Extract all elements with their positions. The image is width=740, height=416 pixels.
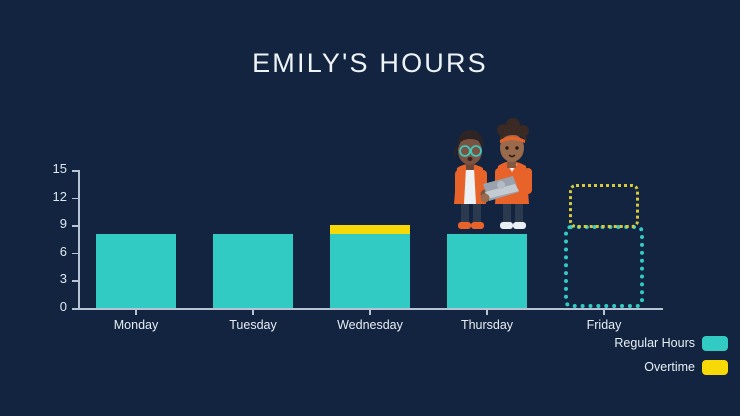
x-label-tuesday: Tuesday xyxy=(229,318,276,332)
y-tick-label-3: 3 xyxy=(60,271,67,286)
y-axis-line xyxy=(78,170,80,309)
x-label-wednesday: Wednesday xyxy=(337,318,403,332)
chart-legend: Regular Hours Overtime xyxy=(588,333,728,381)
y-tick-label-6: 6 xyxy=(60,244,67,259)
legend-label-regular-hours: Regular Hours xyxy=(614,336,695,350)
two-people-with-laptop-illustration xyxy=(443,118,547,234)
y-tick-9: 9 xyxy=(72,225,78,227)
x-tick-tuesday xyxy=(252,309,254,315)
bar-wednesday-overtime[interactable] xyxy=(330,225,410,234)
y-tick-3: 3 xyxy=(72,280,78,282)
legend-label-overtime: Overtime xyxy=(644,360,695,374)
y-tick-label-15: 15 xyxy=(53,161,67,176)
bar-thursday-regular[interactable] xyxy=(447,234,527,308)
x-label-friday: Friday xyxy=(587,318,622,332)
y-tick-15: 15 xyxy=(72,170,78,172)
x-label-monday: Monday xyxy=(114,318,158,332)
bar-wednesday-regular[interactable] xyxy=(330,234,410,308)
legend-item-overtime[interactable]: Overtime xyxy=(588,357,728,377)
y-tick-6: 6 xyxy=(72,253,78,255)
bar-tuesday-regular[interactable] xyxy=(213,234,293,308)
bar-friday-overtime-placeholder[interactable] xyxy=(569,184,639,228)
y-tick-0: 0 xyxy=(72,308,78,310)
x-label-thursday: Thursday xyxy=(461,318,513,332)
x-tick-thursday xyxy=(486,309,488,315)
page-title: EMILY'S HOURS xyxy=(0,48,740,79)
y-tick-label-9: 9 xyxy=(60,216,67,231)
slide-canvas: EMILY'S HOURS 0 3 6 9 12 15 xyxy=(0,0,740,416)
x-tick-friday xyxy=(603,309,605,315)
y-tick-12: 12 xyxy=(72,198,78,200)
legend-item-regular-hours[interactable]: Regular Hours xyxy=(588,333,728,353)
y-tick-label-12: 12 xyxy=(53,189,67,204)
bar-monday-regular[interactable] xyxy=(96,234,176,308)
x-tick-monday xyxy=(135,309,137,315)
bar-friday-regular-placeholder[interactable] xyxy=(564,225,644,308)
chart-plot-area: 0 3 6 9 12 15 Monday Tuesday xyxy=(78,170,663,308)
y-tick-label-0: 0 xyxy=(60,299,67,314)
legend-swatch-regular-hours xyxy=(702,336,728,351)
x-axis-line xyxy=(78,308,663,310)
legend-swatch-overtime xyxy=(702,360,728,375)
x-tick-wednesday xyxy=(369,309,371,315)
